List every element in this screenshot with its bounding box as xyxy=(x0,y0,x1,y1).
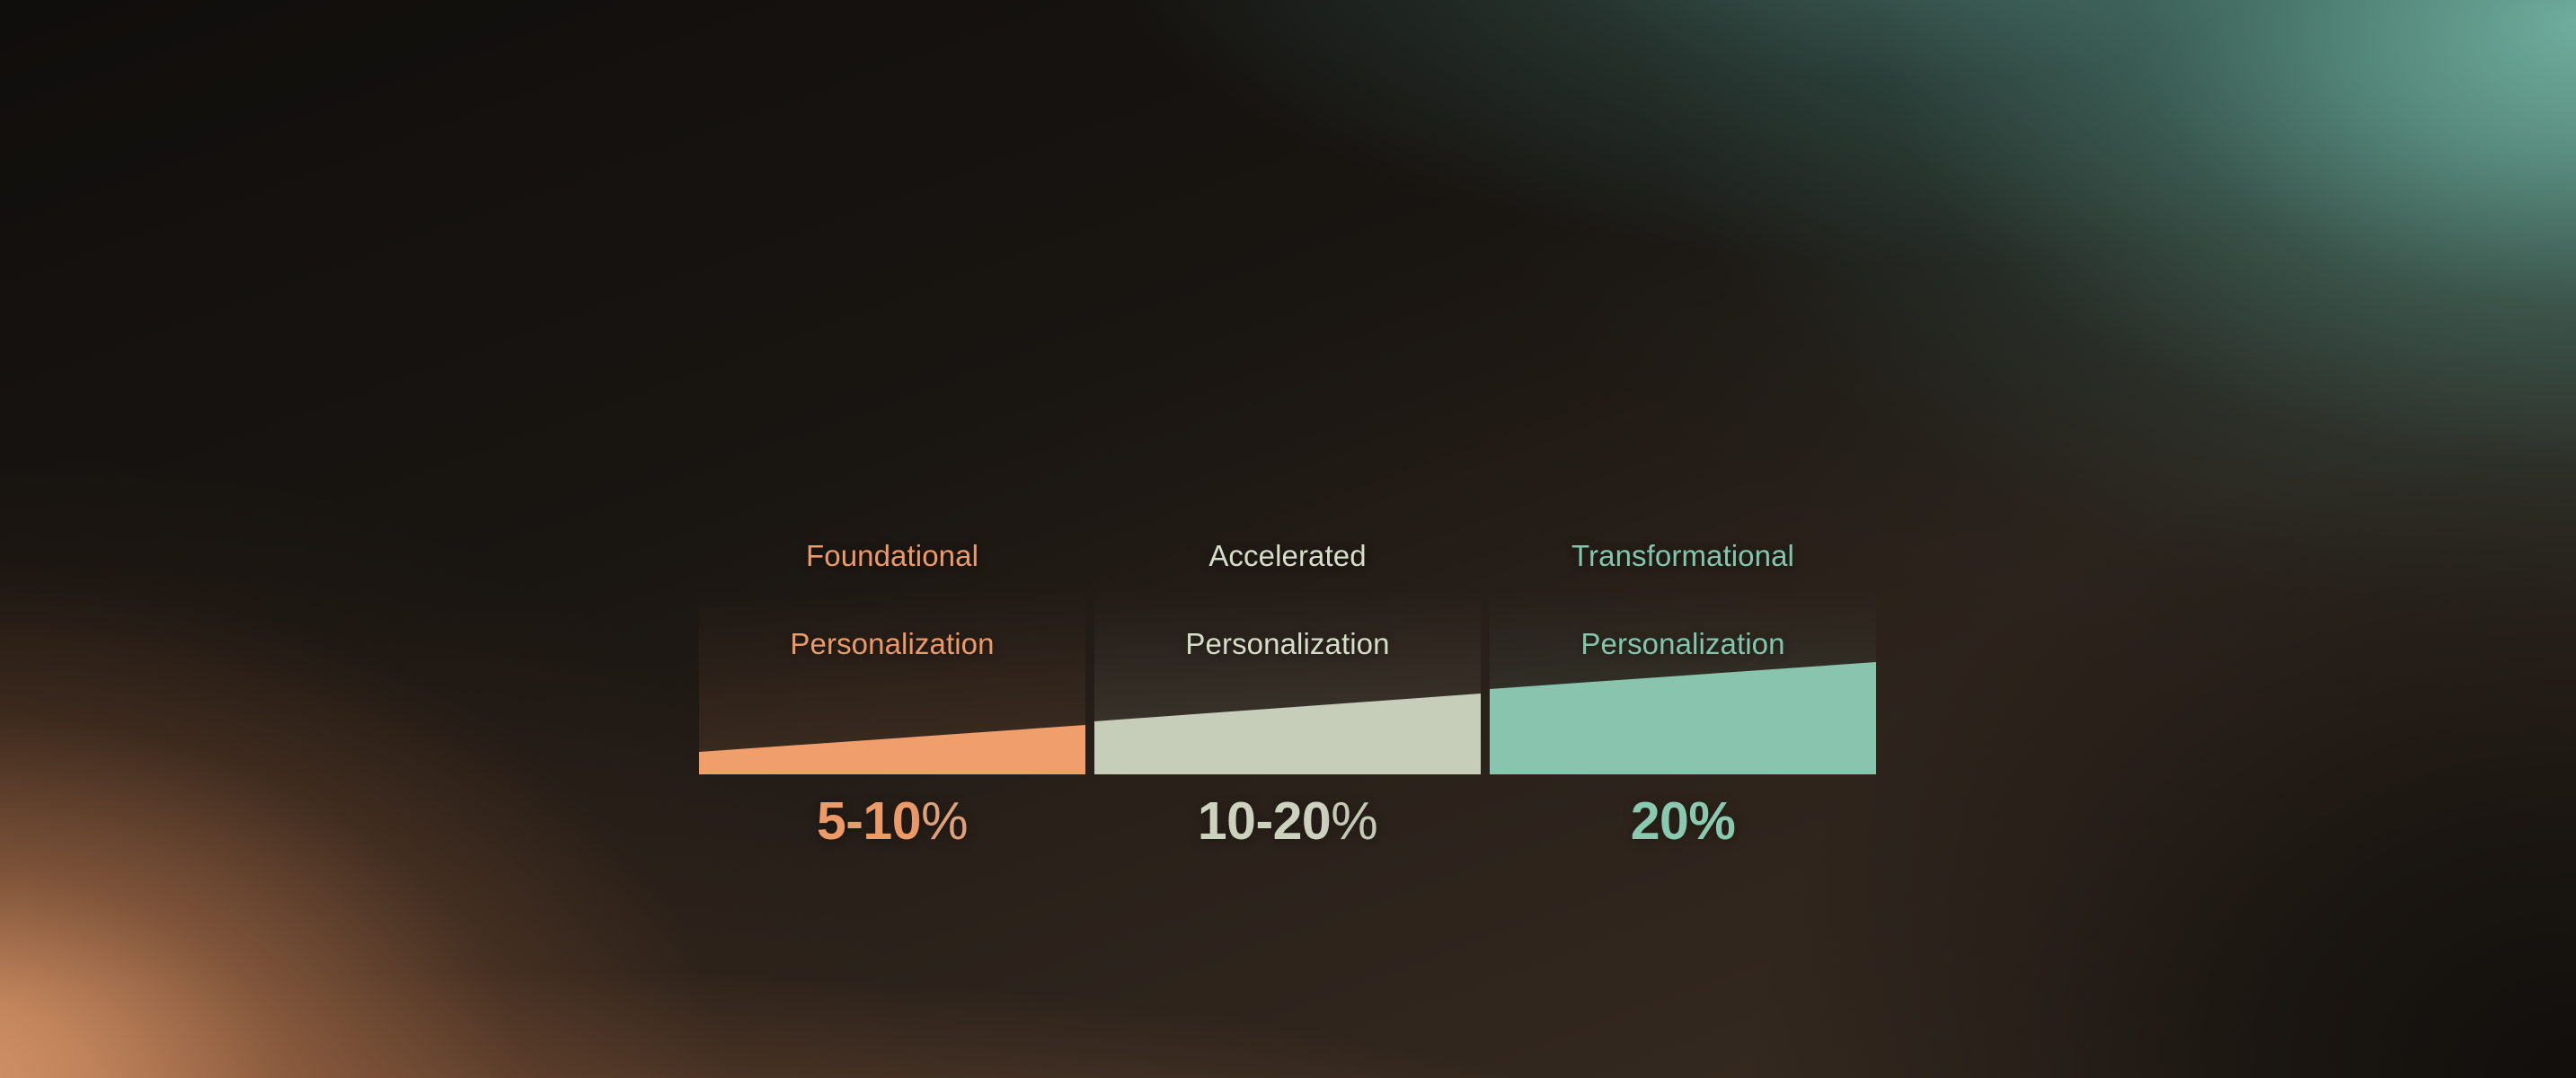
personalization-uplift-chart: Foundational Personalization 5-10% Accel… xyxy=(699,490,1876,876)
chart-column-transformational: Transformational Personalization 20% xyxy=(1490,490,1876,876)
column-value-number: 20% xyxy=(1631,791,1736,851)
chart-column-accelerated: Accelerated Personalization 10-20% xyxy=(1094,490,1481,876)
column-bar-panel-transformational xyxy=(1490,588,1876,774)
bar-wedge-foundational xyxy=(699,588,1085,774)
column-title-line1: Transformational xyxy=(1571,539,1794,572)
chart-column-foundational: Foundational Personalization 5-10% xyxy=(699,490,1085,876)
column-title-line1: Foundational xyxy=(806,539,978,572)
bar-wedge-accelerated xyxy=(1094,588,1481,774)
column-value-number: 5-10 xyxy=(817,791,921,851)
column-title-line1: Accelerated xyxy=(1208,539,1366,572)
column-value-accelerated: 10-20% xyxy=(1058,791,1517,852)
slide-canvas: Foundational Personalization 5-10% Accel… xyxy=(0,0,2576,1078)
column-value-percent: % xyxy=(921,791,968,851)
column-bar-panel-accelerated xyxy=(1094,588,1481,774)
column-value-percent: % xyxy=(1331,791,1377,851)
bar-wedge-transformational xyxy=(1490,588,1876,774)
column-value-number: 10-20 xyxy=(1198,791,1331,851)
column-value-transformational: 20% xyxy=(1454,791,1912,852)
column-value-foundational: 5-10% xyxy=(663,791,1121,852)
column-bar-panel-foundational xyxy=(699,588,1085,774)
